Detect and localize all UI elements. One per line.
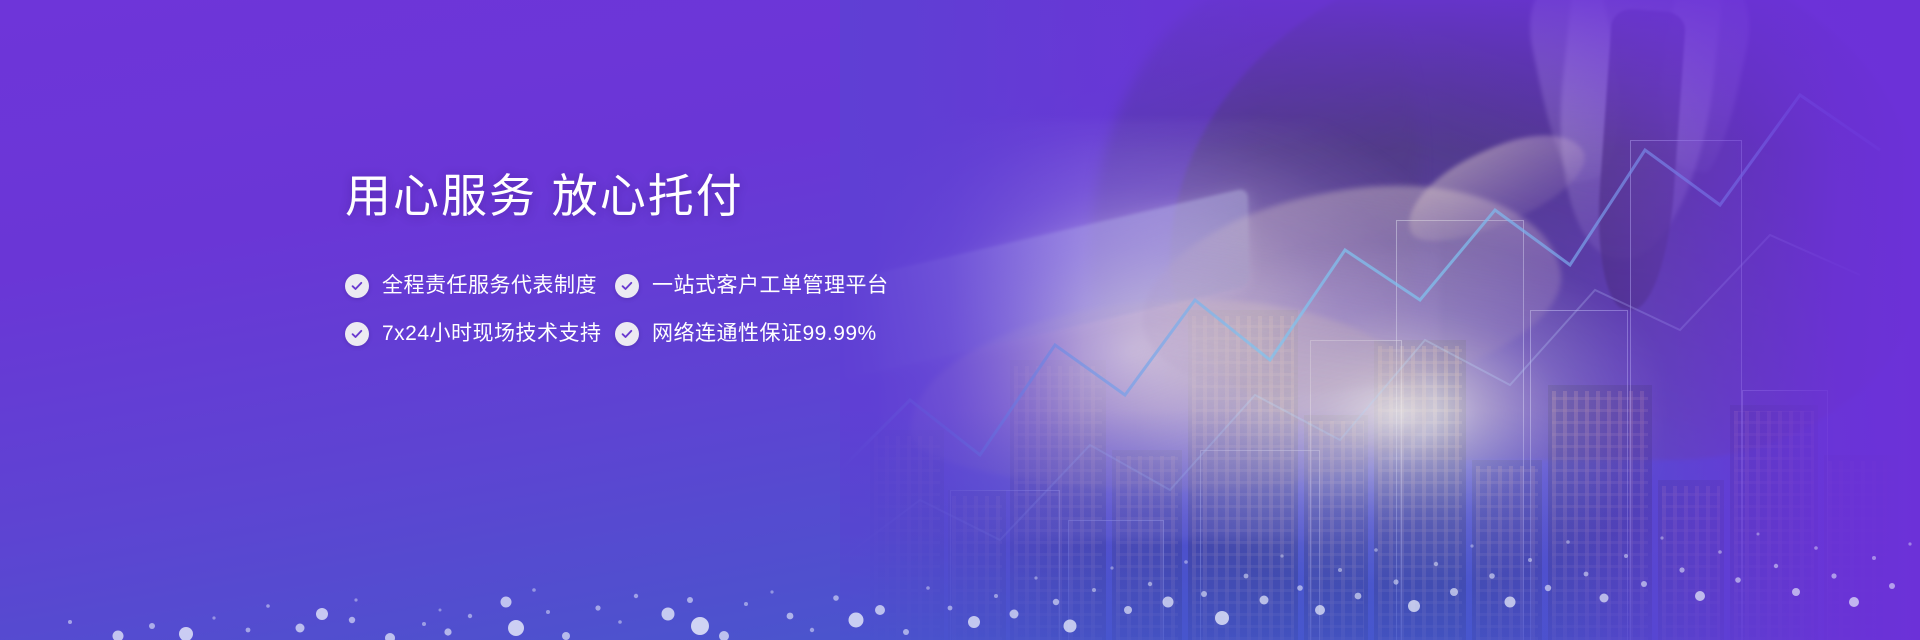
dot-particles — [0, 450, 1920, 640]
check-circle-icon — [615, 274, 639, 298]
hero-content: 用心服务 放心托付 全程责任服务代表制度 — [345, 168, 1245, 346]
check-circle-icon — [615, 322, 639, 346]
check-circle-icon — [345, 274, 369, 298]
feature-label: 网络连通性保证99.99% — [652, 323, 877, 344]
feature-list: 全程责任服务代表制度 一站式客户工单管理平台 — [345, 274, 1245, 346]
check-circle-icon — [345, 322, 369, 346]
feature-item[interactable]: 网络连通性保证99.99% — [615, 322, 877, 346]
feature-item[interactable]: 7x24小时现场技术支持 — [345, 322, 615, 346]
feature-label: 一站式客户工单管理平台 — [652, 275, 889, 296]
feature-label: 7x24小时现场技术支持 — [382, 323, 602, 344]
feature-row: 全程责任服务代表制度 一站式客户工单管理平台 — [345, 274, 1245, 298]
hero-headline: 用心服务 放心托付 — [345, 168, 1245, 226]
feature-item[interactable]: 一站式客户工单管理平台 — [615, 274, 889, 298]
feature-label: 全程责任服务代表制度 — [382, 275, 597, 296]
hero-banner: 用心服务 放心托付 全程责任服务代表制度 — [0, 0, 1920, 640]
feature-item[interactable]: 全程责任服务代表制度 — [345, 274, 615, 298]
feature-row: 7x24小时现场技术支持 网络连通性保证99.99% — [345, 322, 1245, 346]
